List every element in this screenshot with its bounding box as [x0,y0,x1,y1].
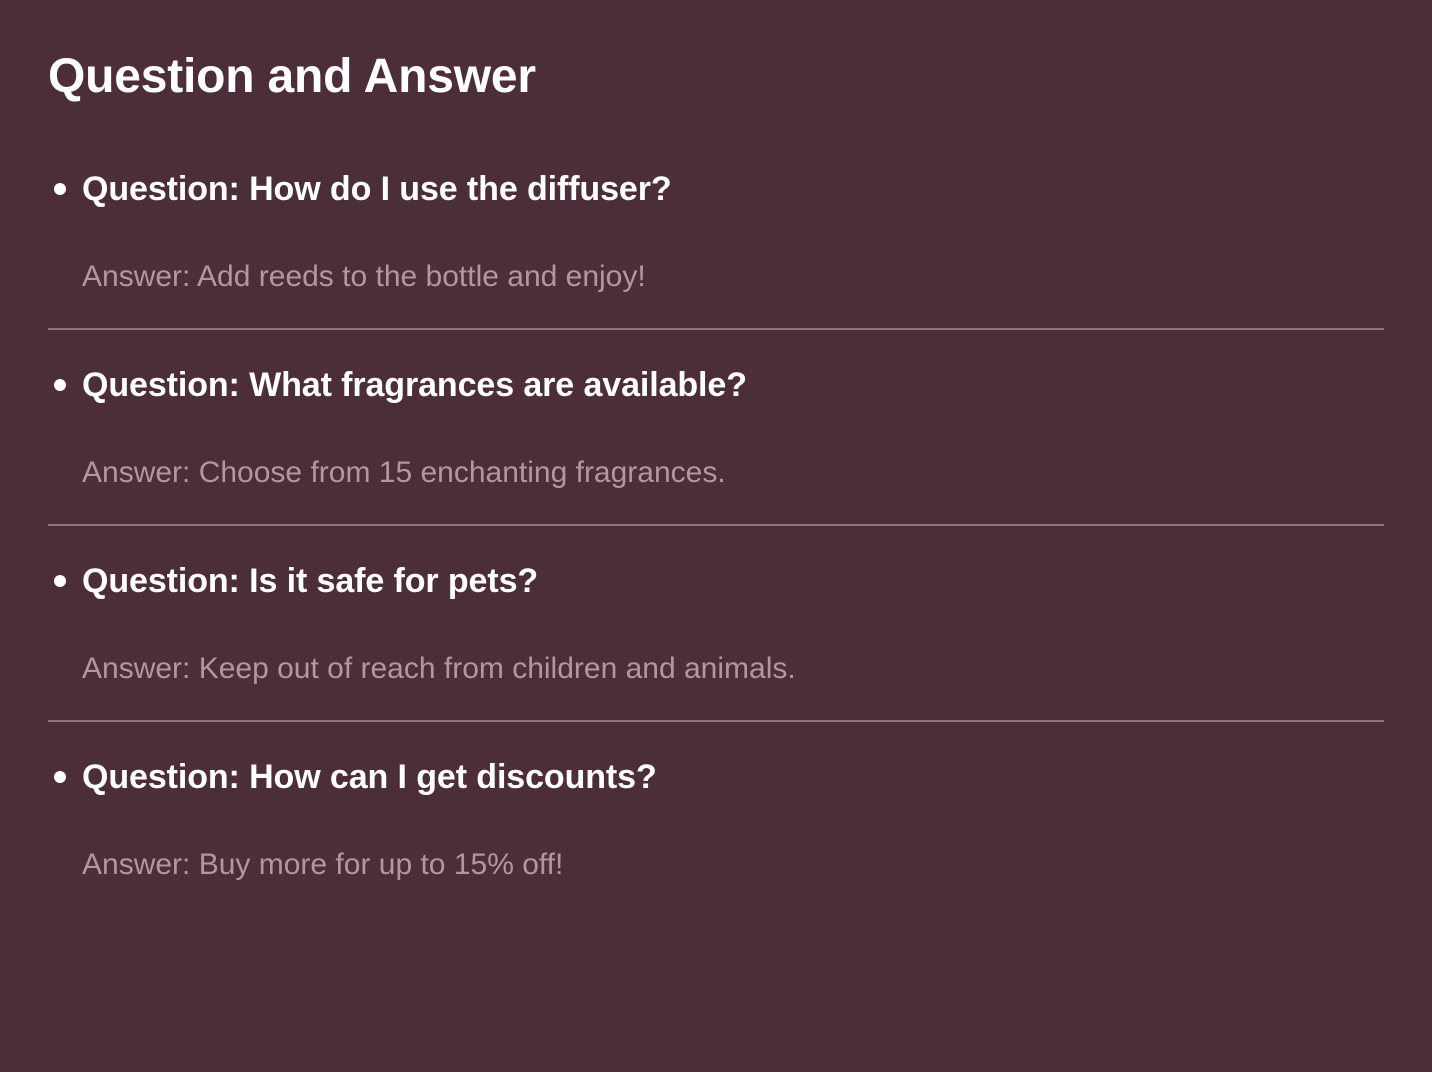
bullet-dot-icon [54,771,66,783]
question-and-answer-panel: Question and Answer Question: How do I u… [0,0,1432,1072]
qa-list: Question: How do I use the diffuser? Ans… [48,106,1384,916]
qa-question: Question: What fragrances are available? [82,364,1384,406]
page-title: Question and Answer [48,48,1384,106]
qa-answer: Answer: Keep out of reach from children … [82,650,1384,688]
qa-entry: Question: Is it safe for pets? Answer: K… [82,526,1384,720]
qa-question: Question: Is it safe for pets? [82,560,1384,602]
qa-question: Question: How can I get discounts? [82,756,1384,798]
qa-entry: Question: How can I get discounts? Answe… [82,722,1384,916]
list-item: Question: What fragrances are available?… [48,328,1384,524]
qa-entry: Question: How do I use the diffuser? Ans… [82,106,1384,328]
qa-entry: Question: What fragrances are available?… [82,330,1384,524]
list-item: Question: Is it safe for pets? Answer: K… [48,524,1384,720]
bullet-dot-icon [54,575,66,587]
bullet-dot-icon [54,183,66,195]
list-item: Question: How do I use the diffuser? Ans… [48,106,1384,328]
qa-answer: Answer: Buy more for up to 15% off! [82,846,1384,884]
qa-question: Question: How do I use the diffuser? [82,168,1384,210]
qa-answer: Answer: Choose from 15 enchanting fragra… [82,454,1384,492]
bullet-dot-icon [54,379,66,391]
qa-answer: Answer: Add reeds to the bottle and enjo… [82,258,1384,296]
list-item: Question: How can I get discounts? Answe… [48,720,1384,916]
